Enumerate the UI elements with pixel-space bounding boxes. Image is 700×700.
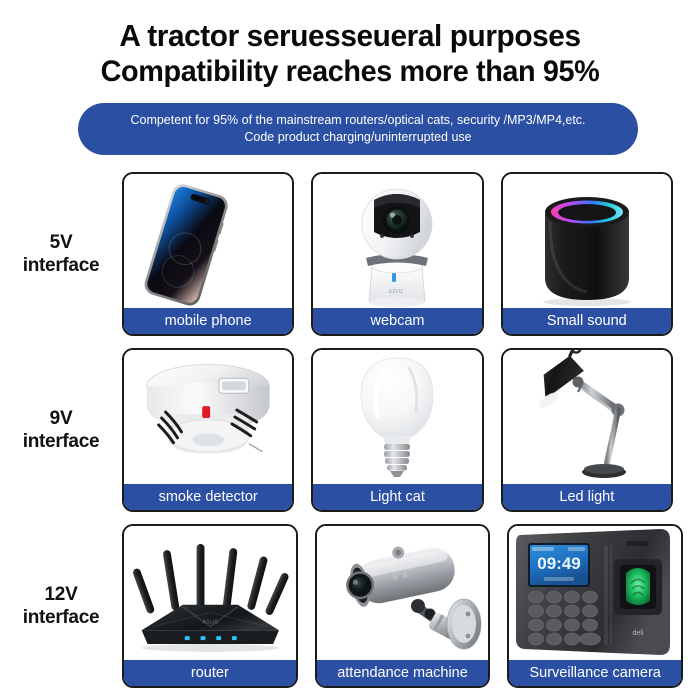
card-caption-smoke-detector: smoke detector [124, 484, 292, 510]
card-caption-led-light: Led light [503, 484, 671, 510]
smart-speaker-icon [517, 174, 657, 308]
desk-lamp-icon [512, 350, 662, 484]
card-caption-surveillance-camera: Surveillance camera [509, 660, 681, 686]
bullet-camera-icon [318, 528, 488, 658]
row-voltage-5v: 5V [0, 231, 122, 254]
card-router[interactable]: ASUS router [122, 524, 298, 688]
row-12v-cards: ASUS router [122, 524, 700, 688]
svg-text:deli: deli [633, 630, 644, 637]
row-5v: 5V interface [0, 168, 700, 340]
card-led-light[interactable]: Led light [501, 348, 673, 512]
row-interface-text-5v: interface [0, 254, 122, 277]
row-9v-cards: smoke detector [122, 348, 700, 512]
card-attendance-machine[interactable]: attendance machine [315, 524, 491, 688]
row-9v: 9V interface [0, 344, 700, 516]
card-caption-attendance-machine: attendance machine [317, 660, 489, 686]
card-webcam[interactable]: EZVIZ [311, 172, 483, 336]
card-surveillance-camera[interactable]: 09:49 [507, 524, 683, 688]
row-interface-text-9v: interface [0, 430, 122, 453]
banner-line-2: Code product charging/uninterrupted use [244, 129, 471, 146]
card-caption-small-sound: Small sound [503, 308, 671, 334]
row-voltage-12v: 12V [0, 583, 122, 606]
card-small-sound[interactable]: Small sound [501, 172, 673, 336]
smartphone-icon [124, 175, 292, 307]
card-caption-light-cat: Light cat [313, 484, 481, 510]
row-5v-cards: mobile phone [122, 172, 700, 336]
light-bulb-icon [337, 350, 457, 484]
attendance-terminal-icon: 09:49 [510, 527, 680, 659]
row-label-9v: 9V interface [0, 407, 122, 453]
card-smoke-detector[interactable]: smoke detector [122, 348, 294, 512]
row-voltage-9v: 9V [0, 407, 122, 430]
attendance-clock-text: 09:49 [537, 554, 580, 573]
card-media-light-cat [313, 350, 481, 484]
card-media-attendance-machine [317, 526, 489, 660]
svg-text:EZVIZ: EZVIZ [389, 289, 403, 295]
card-media-led-light [503, 350, 671, 484]
row-label-12v: 12V interface [0, 583, 122, 629]
headline-line-2: Compatibility reaches more than 95% [14, 54, 686, 90]
card-caption-router: router [124, 660, 296, 686]
card-media-webcam: EZVIZ [313, 174, 481, 308]
card-mobile-phone[interactable]: mobile phone [122, 172, 294, 336]
card-media-router: ASUS [124, 526, 296, 660]
card-caption-webcam: webcam [313, 308, 481, 334]
card-caption-mobile-phone: mobile phone [124, 308, 292, 334]
card-media-small-sound [503, 174, 671, 308]
row-label-5v: 5V interface [0, 231, 122, 277]
compatibility-banner: Competent for 95% of the mainstream rout… [78, 103, 638, 155]
page-title: A tractor seruesseueral purposes Compati… [14, 18, 686, 90]
headline-line-1: A tractor seruesseueral purposes [14, 18, 686, 54]
banner-line-1: Competent for 95% of the mainstream rout… [130, 112, 585, 129]
card-media-surveillance-camera: 09:49 [509, 526, 681, 660]
card-media-mobile-phone [124, 174, 292, 308]
card-light-cat[interactable]: Light cat [311, 348, 483, 512]
device-compatibility-grid: 5V interface [0, 168, 700, 696]
row-12v: 12V interface [0, 520, 700, 692]
router-icon: ASUS [124, 527, 296, 659]
smoke-detector-icon [124, 352, 292, 482]
card-media-smoke-detector [124, 350, 292, 484]
svg-text:ASUS: ASUS [202, 619, 218, 625]
webcam-icon: EZVIZ [322, 174, 472, 308]
row-interface-text-12v: interface [0, 606, 122, 629]
